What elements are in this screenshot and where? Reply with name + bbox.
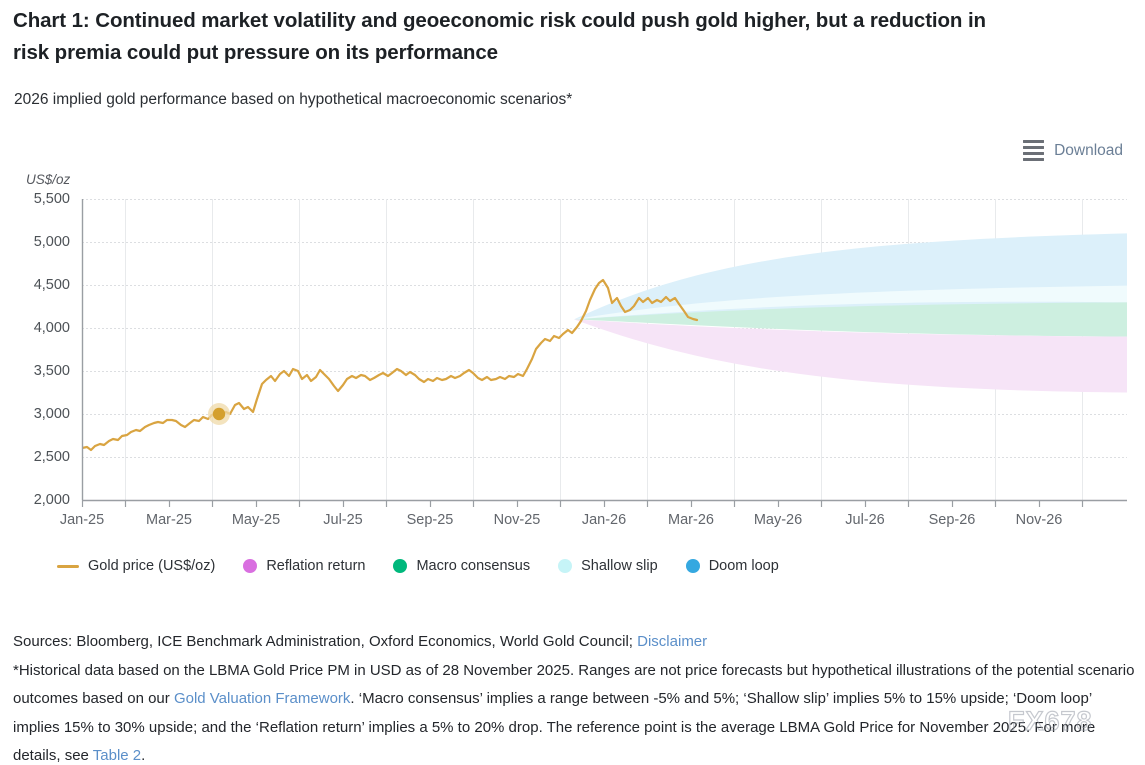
- footnote-text-end: .: [141, 747, 145, 764]
- legend-label-shallow-slip: Shallow slip: [581, 558, 658, 574]
- x-tick-sep-26: Sep-26: [929, 512, 976, 528]
- legend-dot-icon-shallow-slip: [558, 559, 572, 573]
- plot-region: [82, 199, 1127, 500]
- x-tick-jan-26: Jan-26: [582, 512, 626, 528]
- chart-legend: Gold price (US$/oz) Reflation return Mac…: [57, 558, 779, 574]
- x-tick-nov-26: Nov-26: [1016, 512, 1063, 528]
- y-tick-4500: 4,500: [0, 277, 70, 293]
- y-tick-3000: 3,000: [0, 406, 70, 422]
- x-tick-nov-25: Nov-25: [494, 512, 541, 528]
- x-tick-sep-25: Sep-25: [407, 512, 454, 528]
- chart-subtitle: 2026 implied gold performance based on h…: [14, 89, 914, 111]
- legend-item-reflation-return[interactable]: Reflation return: [243, 558, 365, 574]
- y-axis-unit-label: US$/oz: [26, 172, 70, 187]
- x-tick-mar-26: Mar-26: [668, 512, 714, 528]
- legend-item-doom-loop[interactable]: Doom loop: [686, 558, 779, 574]
- legend-item-gold-price[interactable]: Gold price (US$/oz): [57, 558, 215, 574]
- table-2-link[interactable]: Table 2: [93, 747, 141, 764]
- x-tick-jul-25: Jul-25: [323, 512, 363, 528]
- chart-canvas: US$/oz 5,500 5,000 4,500 4,000 3,500 3,0…: [0, 160, 1145, 595]
- gold-valuation-framework-link[interactable]: Gold Valuation Framework: [174, 690, 350, 707]
- legend-dot-icon-doom-loop: [686, 559, 700, 573]
- sources-text: Sources: Bloomberg, ICE Benchmark Admini…: [13, 633, 637, 650]
- x-tick-may-25: May-25: [232, 512, 280, 528]
- gold-price-marker-point[interactable]: [208, 403, 230, 425]
- x-tick-may-26: May-26: [754, 512, 802, 528]
- chart-page: Chart 1: Continued market volatility and…: [0, 0, 1145, 765]
- legend-label-reflation-return: Reflation return: [266, 558, 365, 574]
- hamburger-menu-icon: [1023, 140, 1044, 161]
- legend-label-gold-price: Gold price (US$/oz): [88, 558, 215, 574]
- download-button-label: Download: [1054, 142, 1123, 160]
- download-button[interactable]: Download: [1023, 140, 1123, 161]
- methodology-note: *Historical data based on the LBMA Gold …: [13, 657, 1138, 765]
- y-tick-5000: 5,000: [0, 234, 70, 250]
- legend-line-icon-gold-price: [57, 565, 79, 568]
- footnotes: Sources: Bloomberg, ICE Benchmark Admini…: [13, 628, 1138, 765]
- y-tick-3500: 3,500: [0, 363, 70, 379]
- page-title: Chart 1: Continued market volatility and…: [13, 5, 1023, 69]
- x-tick-mar-25: Mar-25: [146, 512, 192, 528]
- y-tick-4000: 4,000: [0, 320, 70, 336]
- x-tick-jan-25: Jan-25: [60, 512, 104, 528]
- legend-item-shallow-slip[interactable]: Shallow slip: [558, 558, 658, 574]
- legend-dot-icon-macro-consensus: [393, 559, 407, 573]
- legend-dot-icon-reflation-return: [243, 559, 257, 573]
- disclaimer-link[interactable]: Disclaimer: [637, 633, 707, 650]
- y-tick-2500: 2,500: [0, 449, 70, 465]
- chart-svg: [82, 199, 1127, 500]
- y-tick-5500: 5,500: [0, 191, 70, 207]
- legend-item-macro-consensus[interactable]: Macro consensus: [393, 558, 530, 574]
- gold-price-line: [82, 280, 697, 450]
- legend-label-doom-loop: Doom loop: [709, 558, 779, 574]
- legend-label-macro-consensus: Macro consensus: [416, 558, 530, 574]
- x-tick-jul-26: Jul-26: [845, 512, 885, 528]
- sources-line: Sources: Bloomberg, ICE Benchmark Admini…: [13, 628, 1138, 657]
- y-tick-2000: 2,000: [0, 492, 70, 508]
